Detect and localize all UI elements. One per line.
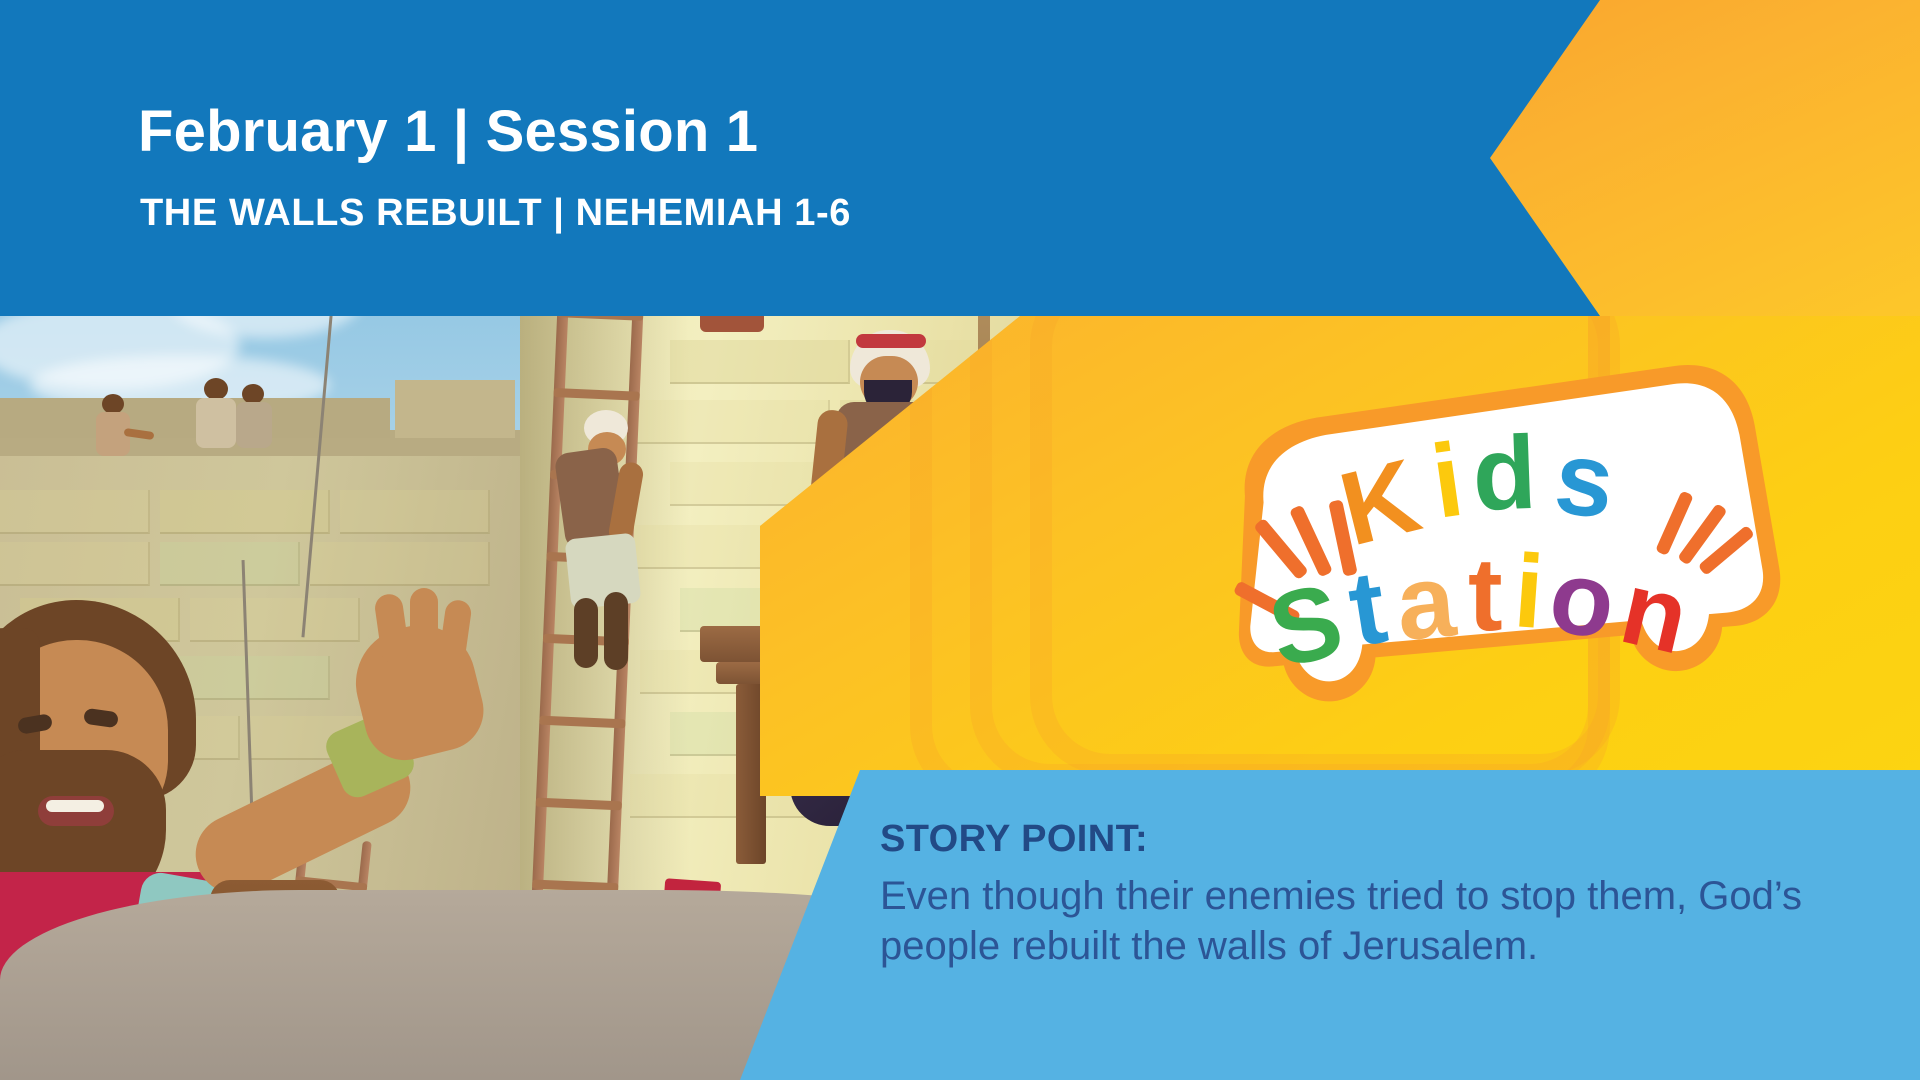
page-subtitle: THE WALLS REBUILT | NEHEMIAH 1-6 (140, 192, 851, 235)
page-title: February 1 | Session 1 (138, 98, 758, 165)
svg-text:a: a (1392, 542, 1461, 663)
kids-station-logo[interactable]: K i d s S t a t i o n Kids Station (1216, 378, 1786, 708)
story-point-label: STORY POINT: (880, 818, 1148, 861)
svg-text:s: s (1550, 420, 1620, 541)
figure-worker-far-2 (190, 378, 280, 468)
story-point-text: Even though their enemies tried to stop … (880, 872, 1810, 971)
figure-worker-far-1 (86, 394, 156, 474)
slide-canvas: K i d s S t a t i o n Kids Station Febru… (0, 0, 1920, 1080)
story-point-panel: STORY POINT: Even though their enemies t… (740, 770, 1920, 1080)
header-banner: February 1 | Session 1 THE WALLS REBUILT… (0, 0, 1600, 316)
figure-climber (538, 410, 668, 710)
parapet-block (395, 380, 515, 438)
svg-text:t: t (1468, 537, 1503, 653)
svg-text:d: d (1471, 415, 1539, 533)
